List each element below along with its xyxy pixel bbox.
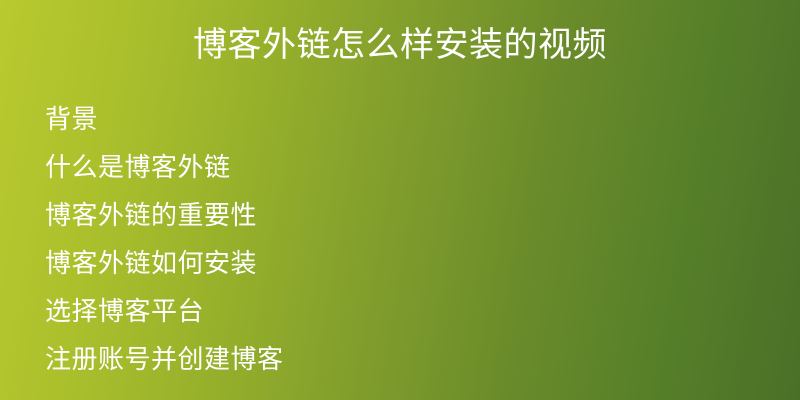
list-item: 博客外链如何安装 (45, 240, 755, 288)
list-item: 选择博客平台 (45, 288, 755, 336)
list-item: 什么是博客外链 (45, 144, 755, 192)
list-item: 注册账号并创建博客 (45, 336, 755, 384)
outline-list: 背景 什么是博客外链 博客外链的重要性 博客外链如何安装 选择博客平台 注册账号… (45, 96, 755, 384)
list-item: 博客外链的重要性 (45, 192, 755, 240)
page-title: 博客外链怎么样安装的视频 (0, 24, 800, 66)
slide-canvas: 博客外链怎么样安装的视频 背景 什么是博客外链 博客外链的重要性 博客外链如何安… (0, 0, 800, 400)
list-item: 背景 (45, 96, 755, 144)
